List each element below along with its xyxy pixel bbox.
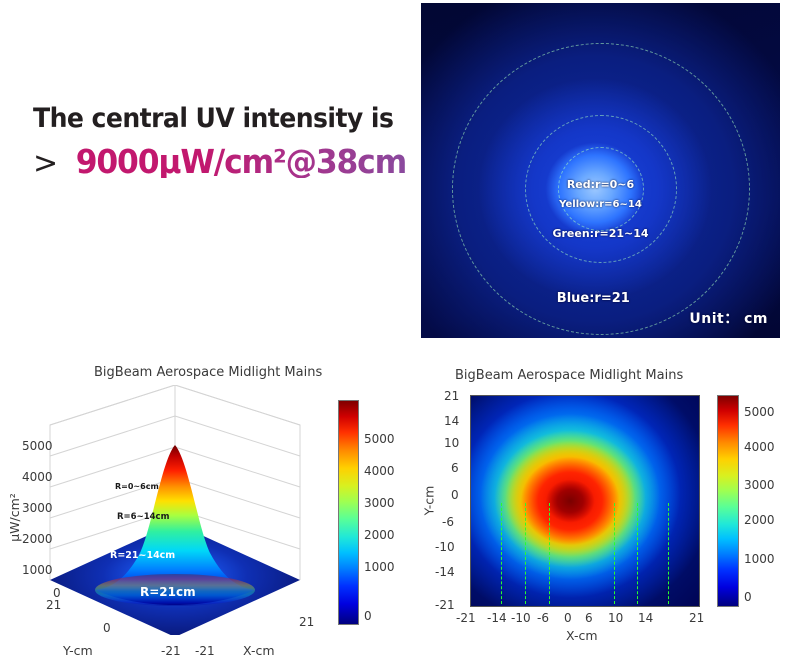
contour-guide-6 [614, 503, 615, 604]
surface-zaxis-label: µW/cm² [7, 493, 22, 542]
surface-colorbar[interactable] [338, 400, 359, 625]
contour-xtick-10: 10 [608, 611, 623, 625]
contour-guide-10 [637, 503, 638, 604]
surface-xtick-m21: -21 [195, 644, 215, 658]
surface-plot-title: BigBeam Aerospace Midlight Mains [94, 365, 322, 380]
contour-ytick-0: 0 [451, 488, 459, 502]
photo-label-red: Red:r=0~6 [567, 178, 634, 191]
contour-ytick-m14: -14 [435, 565, 455, 579]
contour-ytick-21: 21 [444, 389, 459, 403]
contour-xtick-m21: -21 [456, 611, 476, 625]
contour-cbar-2000: 2000 [744, 513, 775, 527]
contour-xtick-6: 6 [585, 611, 593, 625]
surface-cbar-1000: 1000 [364, 560, 395, 574]
greater-than-icon: > [33, 149, 58, 179]
surface-yaxis-label: Y-cm [63, 643, 93, 658]
surface-ztick-3000: 3000 [22, 501, 53, 515]
contour-ytick-14: 14 [444, 414, 459, 428]
uv-beam-photograph: Red:r=0~6 Yellow:r=6~14 Green:r=21~14 Bl… [421, 3, 780, 338]
surface-annotation-green: R=21~14cm [110, 550, 175, 561]
contour-colorbar[interactable] [717, 395, 739, 607]
surface-annotation-red: R=0~6cm [115, 482, 159, 491]
contour-plot-title: BigBeam Aerospace Midlight Mains [455, 368, 683, 383]
surface-ztick-4000: 4000 [22, 470, 53, 484]
surface-ztick-2000: 2000 [22, 532, 53, 546]
contour-xtick-21: 21 [689, 611, 704, 625]
surface-plot-panel: BigBeam Aerospace Midlight Mains [0, 360, 400, 642]
headline-value-row: > 9000µW/cm²@38cm [33, 145, 415, 179]
surface-ztick-1000: 1000 [22, 563, 53, 577]
contour-cbar-3000: 3000 [744, 478, 775, 492]
contour-plot-panel: BigBeam Aerospace Midlight Mains 21 14 1… [400, 360, 799, 642]
contour-cbar-5000: 5000 [744, 405, 775, 419]
surface-cbar-4000: 4000 [364, 464, 395, 478]
contour-xtick-m6: -6 [537, 611, 549, 625]
surface-cbar-0: 0 [364, 609, 372, 623]
contour-cbar-1000: 1000 [744, 552, 775, 566]
photo-label-green: Green:r=21~14 [552, 227, 648, 240]
contour-plot-canvas [470, 395, 700, 607]
contour-guide-m10 [525, 503, 526, 604]
headline-intensity-value: 9000µW/cm²@38cm [76, 145, 406, 178]
surface-cbar-3000: 3000 [364, 496, 395, 510]
headline-block: The central UV intensity is > 9000µW/cm²… [0, 85, 415, 195]
photo-label-yellow: Yellow:r=6~14 [559, 199, 642, 210]
surface-cbar-5000: 5000 [364, 432, 395, 446]
contour-xtick-14: 14 [638, 611, 653, 625]
contour-ytick-m6: -6 [442, 515, 454, 529]
contour-xtick-m10: -10 [511, 611, 531, 625]
contour-yaxis-label: Y-cm [421, 486, 436, 516]
contour-ytick-6: 6 [451, 461, 459, 475]
surface-ytick-21: 21 [46, 598, 61, 612]
surface-ytick-0: 0 [103, 621, 111, 635]
contour-xaxis-label: X-cm [566, 628, 598, 643]
surface-annotation-blue: R=21cm [140, 585, 196, 599]
surface-ztick-5000: 5000 [22, 439, 53, 453]
surface-ytick-m21: -21 [161, 644, 181, 658]
surface-xtick-21: 21 [299, 615, 314, 629]
headline-primary-text: The central UV intensity is [33, 103, 393, 134]
contour-xtick-m14: -14 [487, 611, 507, 625]
surface-xaxis-label: X-cm [243, 643, 275, 658]
contour-ytick-m21: -21 [435, 598, 455, 612]
contour-ytick-10: 10 [444, 436, 459, 450]
surface-cbar-2000: 2000 [364, 528, 395, 542]
contour-guide-m6 [549, 503, 550, 604]
contour-guide-m14 [501, 503, 502, 604]
contour-ytick-m10: -10 [435, 540, 455, 554]
photo-label-blue: Blue:r=21 [557, 291, 630, 306]
contour-cbar-4000: 4000 [744, 440, 775, 454]
photo-label-unit: Unit： cm [689, 308, 768, 328]
contour-xtick-0: 0 [564, 611, 572, 625]
contour-guide-14 [668, 503, 669, 604]
contour-cbar-0: 0 [744, 590, 752, 604]
surface-annotation-yellow: R=6~14cm [117, 512, 169, 522]
